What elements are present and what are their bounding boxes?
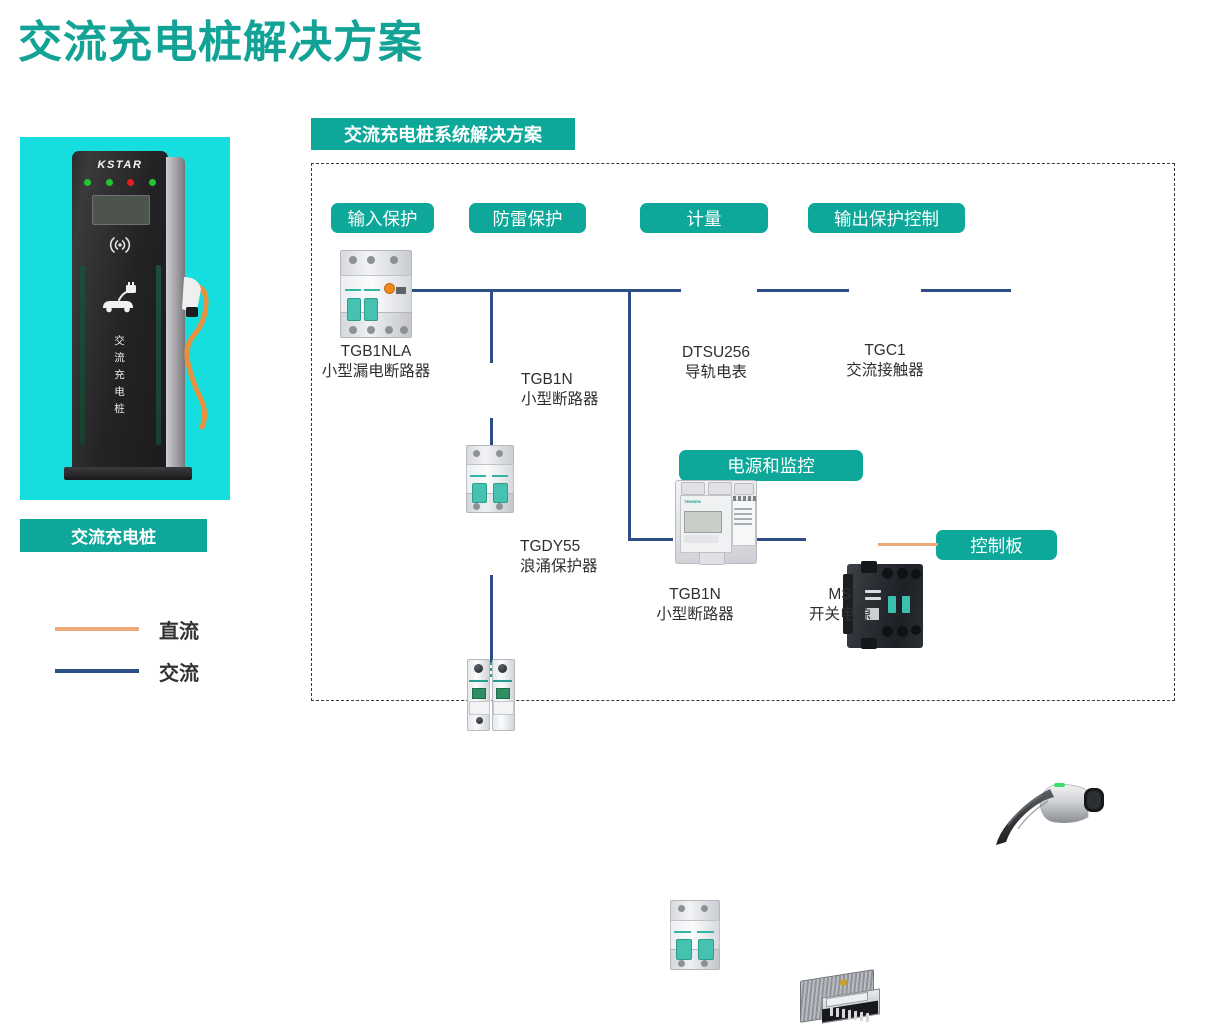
wire-ac-branch-to-power-section [628,289,631,540]
component-mcb-upper-image [466,445,514,513]
led-indicator [106,179,113,186]
component-mcb-lower-desc: 小型断路器 [620,605,770,625]
led-indicator [149,179,156,186]
component-meter-label: DTSU256 导轨电表 [641,343,791,383]
legend: 直流 交流 [55,608,265,692]
ev-charging-gun-image [992,779,1112,851]
wire-ac-bus-main [409,289,681,292]
badge-power-and-monitoring[interactable]: 电源和监控 [679,450,863,481]
legend-dc: 直流 [55,608,265,650]
component-psu-label: MS 开关电源 [775,585,905,625]
component-meter-model: DTSU256 [641,343,791,363]
component-spd-label: TGDY55 浪涌保护器 [520,537,660,577]
pile-brand-label: KSTAR [72,159,168,171]
badge-control-board[interactable]: 控制板 [936,530,1057,560]
legend-dc-line-swatch [55,627,139,631]
component-rcbo-desc: 小型漏电断路器 [296,362,456,382]
component-psu-desc: 开关电源 [775,605,905,625]
pile-charging-cable [170,275,212,445]
pile-base-plate [64,467,192,480]
component-contactor-label: TGC1 交流接触器 [811,341,959,381]
component-mcb-lower-label: TGB1N 小型断路器 [620,585,770,625]
led-indicator [84,179,91,186]
component-psu-model: MS [775,585,905,605]
component-rcbo-model: TGB1NLA [296,342,456,362]
component-meter-desc: 导轨电表 [641,363,791,383]
component-spd-desc: 浪涌保护器 [520,557,660,577]
badge-lightning-protection[interactable]: 防雷保护 [469,203,586,233]
legend-ac: 交流 [55,650,265,692]
legend-dc-label: 直流 [159,615,199,644]
system-title-badge: 交流充电桩系统解决方案 [311,118,575,150]
component-contactor-model: TGC1 [811,341,959,361]
badge-output-protection-control[interactable]: 输出保护控制 [808,203,965,233]
component-mcb-upper-model: TGB1N [521,370,651,390]
component-spd-image [467,659,515,731]
pile-led-row [84,179,156,186]
pile-vertical-label: 交流充电桩 [72,333,168,418]
component-contactor-desc: 交流接触器 [811,361,959,381]
legend-ac-line-swatch [55,669,139,673]
charging-pile-image: KSTAR [20,137,230,500]
component-meter-image: TENGEN [675,480,757,564]
component-rcbo-image [340,250,412,338]
wire-ac-meter-to-contactor [757,289,849,292]
ev-charging-car-icon [93,281,147,317]
wire-ac-branch-to-mcb-upper [490,289,493,363]
component-rcbo-label: TGB1NLA 小型漏电断路器 [296,342,456,382]
led-indicator [127,179,134,186]
legend-ac-label: 交流 [159,657,199,686]
page-title: 交流充电桩解决方案 [18,18,423,69]
wire-ac-spd-to-ground [490,575,493,662]
badge-metering[interactable]: 计量 [640,203,768,233]
component-psu-image [800,971,882,1029]
component-mcb-upper-label: TGB1N 小型断路器 [521,370,651,410]
component-mcb-upper-desc: 小型断路器 [521,390,651,410]
component-spd-model: TGDY55 [520,537,660,557]
wire-ac-contactor-to-gun [921,289,1011,292]
badge-input-protection[interactable]: 输入保护 [331,203,434,233]
component-mcb-lower-model: TGB1N [620,585,770,605]
rfid-wave-icon [104,233,136,257]
pile-display-screen [92,195,150,225]
component-mcb-lower-image [670,900,720,970]
wire-dc-psu-to-control-board [878,543,938,546]
charging-pile-caption: 交流充电桩 [20,519,207,552]
